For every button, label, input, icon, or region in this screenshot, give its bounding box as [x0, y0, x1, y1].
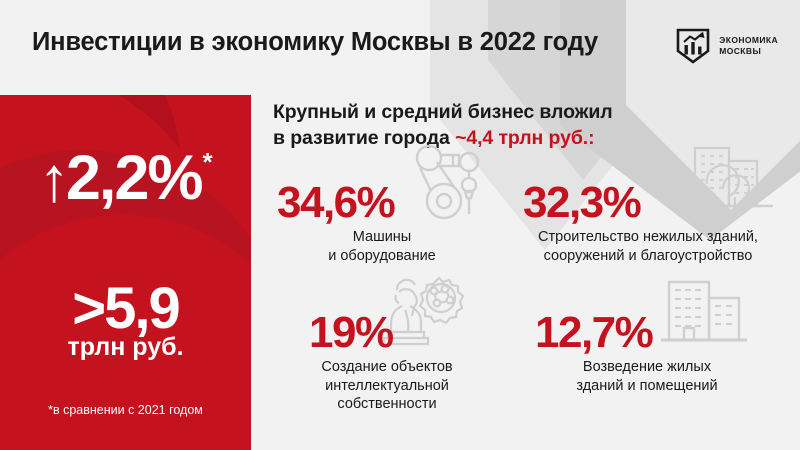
stat-card-residential: 12,7% [503, 293, 800, 395]
stat-label: Строительство нежилых зданий, сооружений… [503, 228, 793, 265]
stat-label: Возведение жилых зданий и помещений [511, 358, 783, 395]
header: Инвестиции в экономику Москвы в 2022 год… [0, 0, 800, 95]
stat-label-line3: собственности [273, 395, 501, 414]
growth-asterisk: * [202, 147, 212, 177]
shield-bar-chart-arrow-icon [676, 28, 710, 64]
stat-card-head: 34,6% [267, 163, 527, 225]
volume-unit: трлн руб. [0, 335, 251, 360]
stat-label: Машины и оборудование [271, 228, 493, 265]
stat-card-intellectual-property: 19% [267, 293, 527, 414]
stat-label-line1: Создание объектов [273, 358, 501, 377]
stat-label-line2: зданий и помещений [511, 377, 783, 396]
volume-value: >5,9 [0, 280, 251, 338]
stat-card-head: 32,3% [503, 163, 800, 225]
page-title: Инвестиции в экономику Москвы в 2022 год… [32, 28, 598, 57]
infographic-canvas: Инвестиции в экономику Москвы в 2022 год… [0, 0, 800, 450]
stat-label-line2: сооружений и благоустройство [503, 247, 793, 266]
stat-value: 34,6% [277, 181, 394, 225]
stat-value: 12,7% [535, 311, 652, 355]
brand-name: ЭКОНОМИКА МОСКВЫ [719, 35, 778, 57]
stat-value: 19% [309, 311, 393, 355]
highlight-panel: ↑2,2%* >5,9 трлн руб. *в сравнении с 202… [0, 95, 251, 450]
stat-label-line1: Возведение жилых [511, 358, 783, 377]
stat-card-head: 12,7% [503, 293, 800, 355]
stat-label-line2: и оборудование [271, 247, 493, 266]
stats-grid: 34,6% [251, 163, 800, 450]
arrow-up-icon: ↑ [38, 149, 68, 212]
growth-stat: ↑2,2%* [0, 147, 251, 212]
lede-line-1: Крупный и средний бизнес вложил [273, 99, 613, 125]
stat-label-line2: интеллектуальной [273, 377, 501, 396]
stat-label-line1: Строительство нежилых зданий, [503, 228, 793, 247]
robot-arm-icon [407, 142, 493, 227]
stat-card-machines: 34,6% [267, 163, 527, 265]
main-content: Крупный и средний бизнес вложил в развит… [251, 95, 800, 450]
stat-label: Создание объектов интеллектуальной собст… [273, 358, 501, 414]
stat-label-line1: Машины [271, 228, 493, 247]
stat-card-head: 19% [267, 293, 527, 355]
stat-value: 32,3% [523, 181, 640, 225]
growth-value: 2,2% [66, 143, 202, 213]
footnote: *в сравнении с 2021 годом [0, 403, 251, 417]
brand-name-line2: МОСКВЫ [719, 46, 778, 57]
brand-name-line1: ЭКОНОМИКА [719, 35, 778, 46]
residential-buildings-icon [655, 276, 753, 355]
city-buildings-park-icon [671, 142, 775, 225]
stat-card-nonresidential: 32,3% [503, 163, 800, 265]
brand-logo: ЭКОНОМИКА МОСКВЫ [676, 28, 778, 64]
